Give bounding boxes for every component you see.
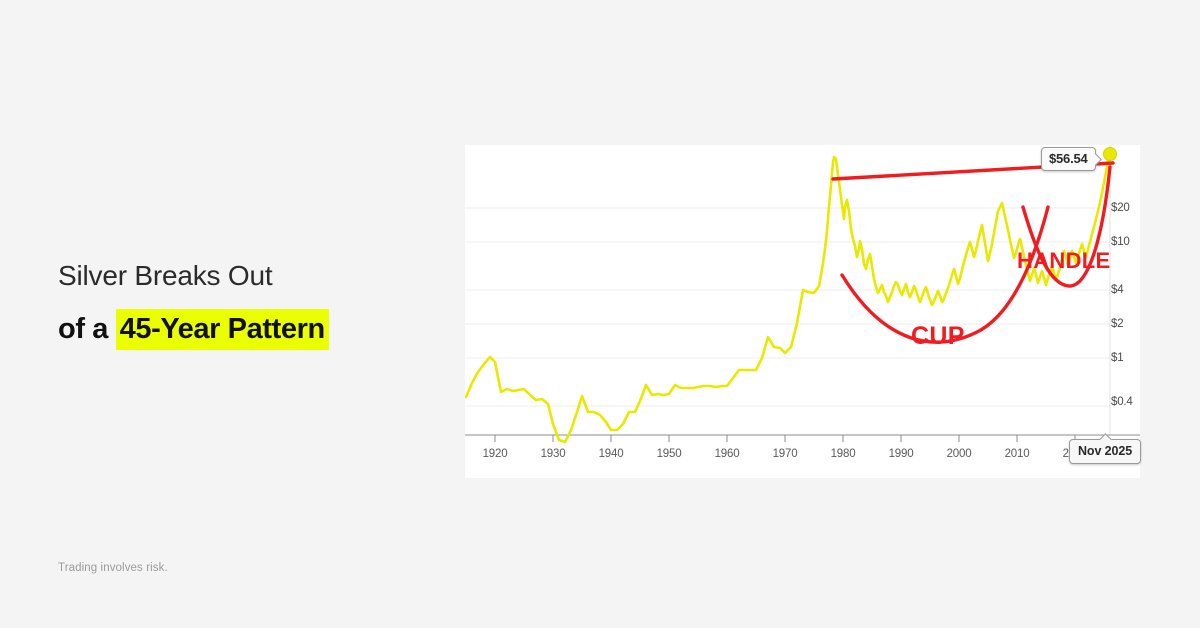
cup-annotation-label: CUP <box>911 322 965 351</box>
x-tick-label-1990: 1990 <box>889 448 914 460</box>
y-tick-label-20: $20 <box>1111 202 1130 214</box>
price-tooltip: $56.54 <box>1041 147 1096 171</box>
x-tick-label-1980: 1980 <box>831 448 856 460</box>
chart-x-ticks <box>495 435 1075 442</box>
y-tick-label-1: $1 <box>1111 352 1123 364</box>
x-tick-label-1930: 1930 <box>541 448 566 460</box>
headline-line-2: of a 45-Year Pattern <box>58 309 458 349</box>
disclaimer-text: Trading involves risk. <box>58 562 168 574</box>
x-tick-label-1950: 1950 <box>657 448 682 460</box>
y-tick-label-0-4: $0.4 <box>1111 396 1133 408</box>
headline-highlight: 45-Year Pattern <box>116 309 329 350</box>
x-tick-label-1940: 1940 <box>599 448 624 460</box>
headline-line-1: Silver Breaks Out <box>58 256 458 296</box>
x-tick-label-1960: 1960 <box>715 448 740 460</box>
silver-price-chart <box>465 145 1140 478</box>
y-tick-label-4: $4 <box>1111 284 1123 296</box>
infographic-canvas: Silver Breaks Out of a 45-Year Pattern T… <box>0 0 1200 628</box>
y-tick-label-10: $10 <box>1111 236 1130 248</box>
chart-gridlines <box>465 208 1110 406</box>
x-tick-label-2010: 2010 <box>1005 448 1030 460</box>
handle-annotation-label: HANDLE <box>1017 248 1110 274</box>
x-tick-label-2000: 2000 <box>947 448 972 460</box>
y-tick-label-2: $2 <box>1111 318 1123 330</box>
x-tick-label-1970: 1970 <box>773 448 798 460</box>
date-tooltip: Nov 2025 <box>1069 439 1141 464</box>
chart-panel <box>465 145 1140 478</box>
last-price-marker <box>1104 148 1117 161</box>
headline-prefix: of a <box>58 313 116 345</box>
headline-block: Silver Breaks Out of a 45-Year Pattern <box>58 256 458 349</box>
x-tick-label-1920: 1920 <box>483 448 508 460</box>
